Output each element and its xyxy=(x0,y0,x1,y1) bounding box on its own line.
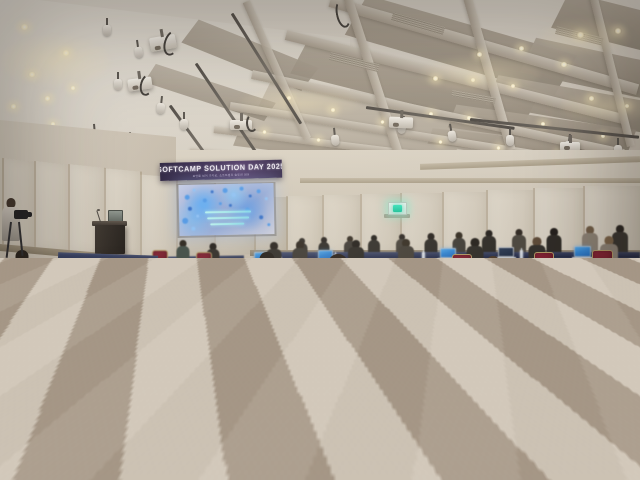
banquet-chair xyxy=(236,286,270,346)
slide-particle xyxy=(223,188,228,193)
slide-particle xyxy=(259,215,263,219)
attendee xyxy=(292,241,307,266)
track-spotlight xyxy=(180,112,187,127)
slide-particle xyxy=(196,215,199,218)
projector-mount xyxy=(240,113,243,121)
recessed-downlight xyxy=(380,120,385,124)
track-spotlight xyxy=(506,128,513,143)
laptop-base xyxy=(572,257,592,261)
spotlight-head xyxy=(506,135,514,146)
attendee xyxy=(430,262,460,318)
backpack-strap xyxy=(10,323,40,341)
hanging-cable xyxy=(246,114,258,132)
attendee xyxy=(10,250,34,290)
ceiling-projector xyxy=(389,117,413,129)
track-spotlight xyxy=(114,72,122,90)
laptop-screen xyxy=(595,302,630,321)
attendee-torso xyxy=(10,262,34,290)
recessed-downlight xyxy=(262,130,267,134)
exit-sign-icon xyxy=(393,205,402,212)
ceiling-light-pool xyxy=(540,20,630,54)
banner-subtitle: 보안을 넘어 가치로, 소프트캠프 솔루션 데이 xyxy=(193,173,250,179)
laptop xyxy=(574,246,591,261)
projection-screen xyxy=(178,183,274,236)
slide-particle xyxy=(203,198,207,202)
slide-particle xyxy=(211,190,214,193)
attendee-torso xyxy=(292,248,307,266)
attendee xyxy=(512,229,526,254)
projector-mount xyxy=(569,135,572,143)
spotlight-head xyxy=(331,134,340,146)
attendee-torso xyxy=(430,276,460,318)
water-bottle xyxy=(420,290,426,307)
slide-particle xyxy=(240,187,244,191)
track-spotlight xyxy=(103,18,111,36)
laptop-screen xyxy=(575,247,589,256)
water-bottle xyxy=(520,250,523,260)
attendee xyxy=(424,233,437,254)
attendee xyxy=(398,239,414,266)
attendee-torso xyxy=(480,268,506,304)
chair-back xyxy=(236,286,272,325)
laptop-lid xyxy=(592,300,634,324)
attendee-head xyxy=(260,252,275,267)
banquet-chair xyxy=(196,252,210,276)
attendee xyxy=(482,230,496,254)
recessed-downlight xyxy=(20,24,29,30)
slide-particle xyxy=(232,193,236,197)
event-banner: SOFTCAMP SOLUTION DAY 2025 보안을 넘어 가치로, 소… xyxy=(160,160,282,181)
recessed-downlight xyxy=(316,138,321,142)
ceiling-light-pool xyxy=(560,92,640,122)
chair-legs xyxy=(324,332,366,347)
slide-particle xyxy=(193,189,196,192)
water-bottle xyxy=(422,252,425,262)
laptop-lid xyxy=(574,246,591,257)
bottle-cap xyxy=(102,273,105,276)
camera-lens xyxy=(26,212,32,217)
phone-on-table xyxy=(556,330,582,341)
wall-panel-left xyxy=(140,175,178,258)
slide-particle xyxy=(265,197,268,200)
water-bottle xyxy=(72,264,77,278)
projector-lens xyxy=(154,45,161,50)
banquet-chair xyxy=(592,250,611,281)
recessed-downlight xyxy=(438,140,443,144)
bottle-cap xyxy=(211,273,214,277)
slide-particle xyxy=(267,223,270,226)
exit-sign xyxy=(388,202,407,215)
track-spotlight xyxy=(330,128,337,142)
conference-hall-photo: SOFTCAMP SOLUTION DAY 2025 보안을 넘어 가치로, 소… xyxy=(0,0,640,480)
backpack xyxy=(282,316,326,368)
water-bottle xyxy=(101,276,106,290)
slide-particle xyxy=(191,227,195,231)
slide-particle xyxy=(188,207,192,211)
attendee xyxy=(546,228,561,254)
chair-back xyxy=(436,322,492,382)
microphone-head xyxy=(97,209,100,211)
bottle-cap xyxy=(421,286,425,290)
projector-lens xyxy=(132,85,138,90)
projector-mount xyxy=(400,110,403,118)
ceiling-light-pool xyxy=(420,56,540,92)
water-bottle xyxy=(210,276,215,291)
wall-panel-left xyxy=(34,161,70,251)
projector-lens xyxy=(234,125,240,129)
banquet-chair-empty xyxy=(436,322,490,416)
attendee xyxy=(176,240,189,260)
backpack xyxy=(0,330,46,378)
spotlight-head xyxy=(103,25,111,36)
chair-legs xyxy=(234,333,274,347)
slide-caption-line xyxy=(207,217,249,220)
chair-shadow xyxy=(428,404,502,418)
recessed-downlight xyxy=(518,46,525,51)
track-spotlight xyxy=(156,96,165,113)
slide-particle xyxy=(249,194,252,197)
projector-lens xyxy=(393,123,399,127)
laptop xyxy=(592,300,634,332)
attendee xyxy=(480,256,506,304)
backpack-strap xyxy=(292,309,321,329)
slide-particle xyxy=(257,189,261,193)
recessed-downlight xyxy=(44,96,51,101)
slide-caption-line xyxy=(210,223,244,226)
camera-on-table xyxy=(596,346,630,370)
attendee-head xyxy=(438,262,453,277)
recessed-downlight xyxy=(70,86,76,90)
spotlight-head xyxy=(134,46,143,58)
slide-particle xyxy=(182,218,188,224)
chair-back xyxy=(326,284,364,324)
slide-particle xyxy=(219,202,222,205)
spotlight-head xyxy=(180,119,188,130)
ceiling-light-pool xyxy=(0,36,110,86)
bottle-cap xyxy=(73,261,76,264)
recessed-downlight xyxy=(10,104,17,109)
chair-legs xyxy=(591,274,614,281)
banquet-chair xyxy=(326,284,362,346)
attendee-torso xyxy=(398,246,414,266)
attendee-hair xyxy=(519,274,557,328)
attendee-torso xyxy=(176,246,189,260)
slide-caption-line xyxy=(205,210,251,213)
slide-particle xyxy=(229,204,232,207)
recessed-downlight xyxy=(560,62,568,67)
wall-cornice-trim xyxy=(300,178,640,183)
slide-particle xyxy=(185,195,190,200)
laptop-base xyxy=(588,324,638,332)
spotlight-head xyxy=(114,79,122,90)
ceiling-light-pool xyxy=(240,88,360,118)
